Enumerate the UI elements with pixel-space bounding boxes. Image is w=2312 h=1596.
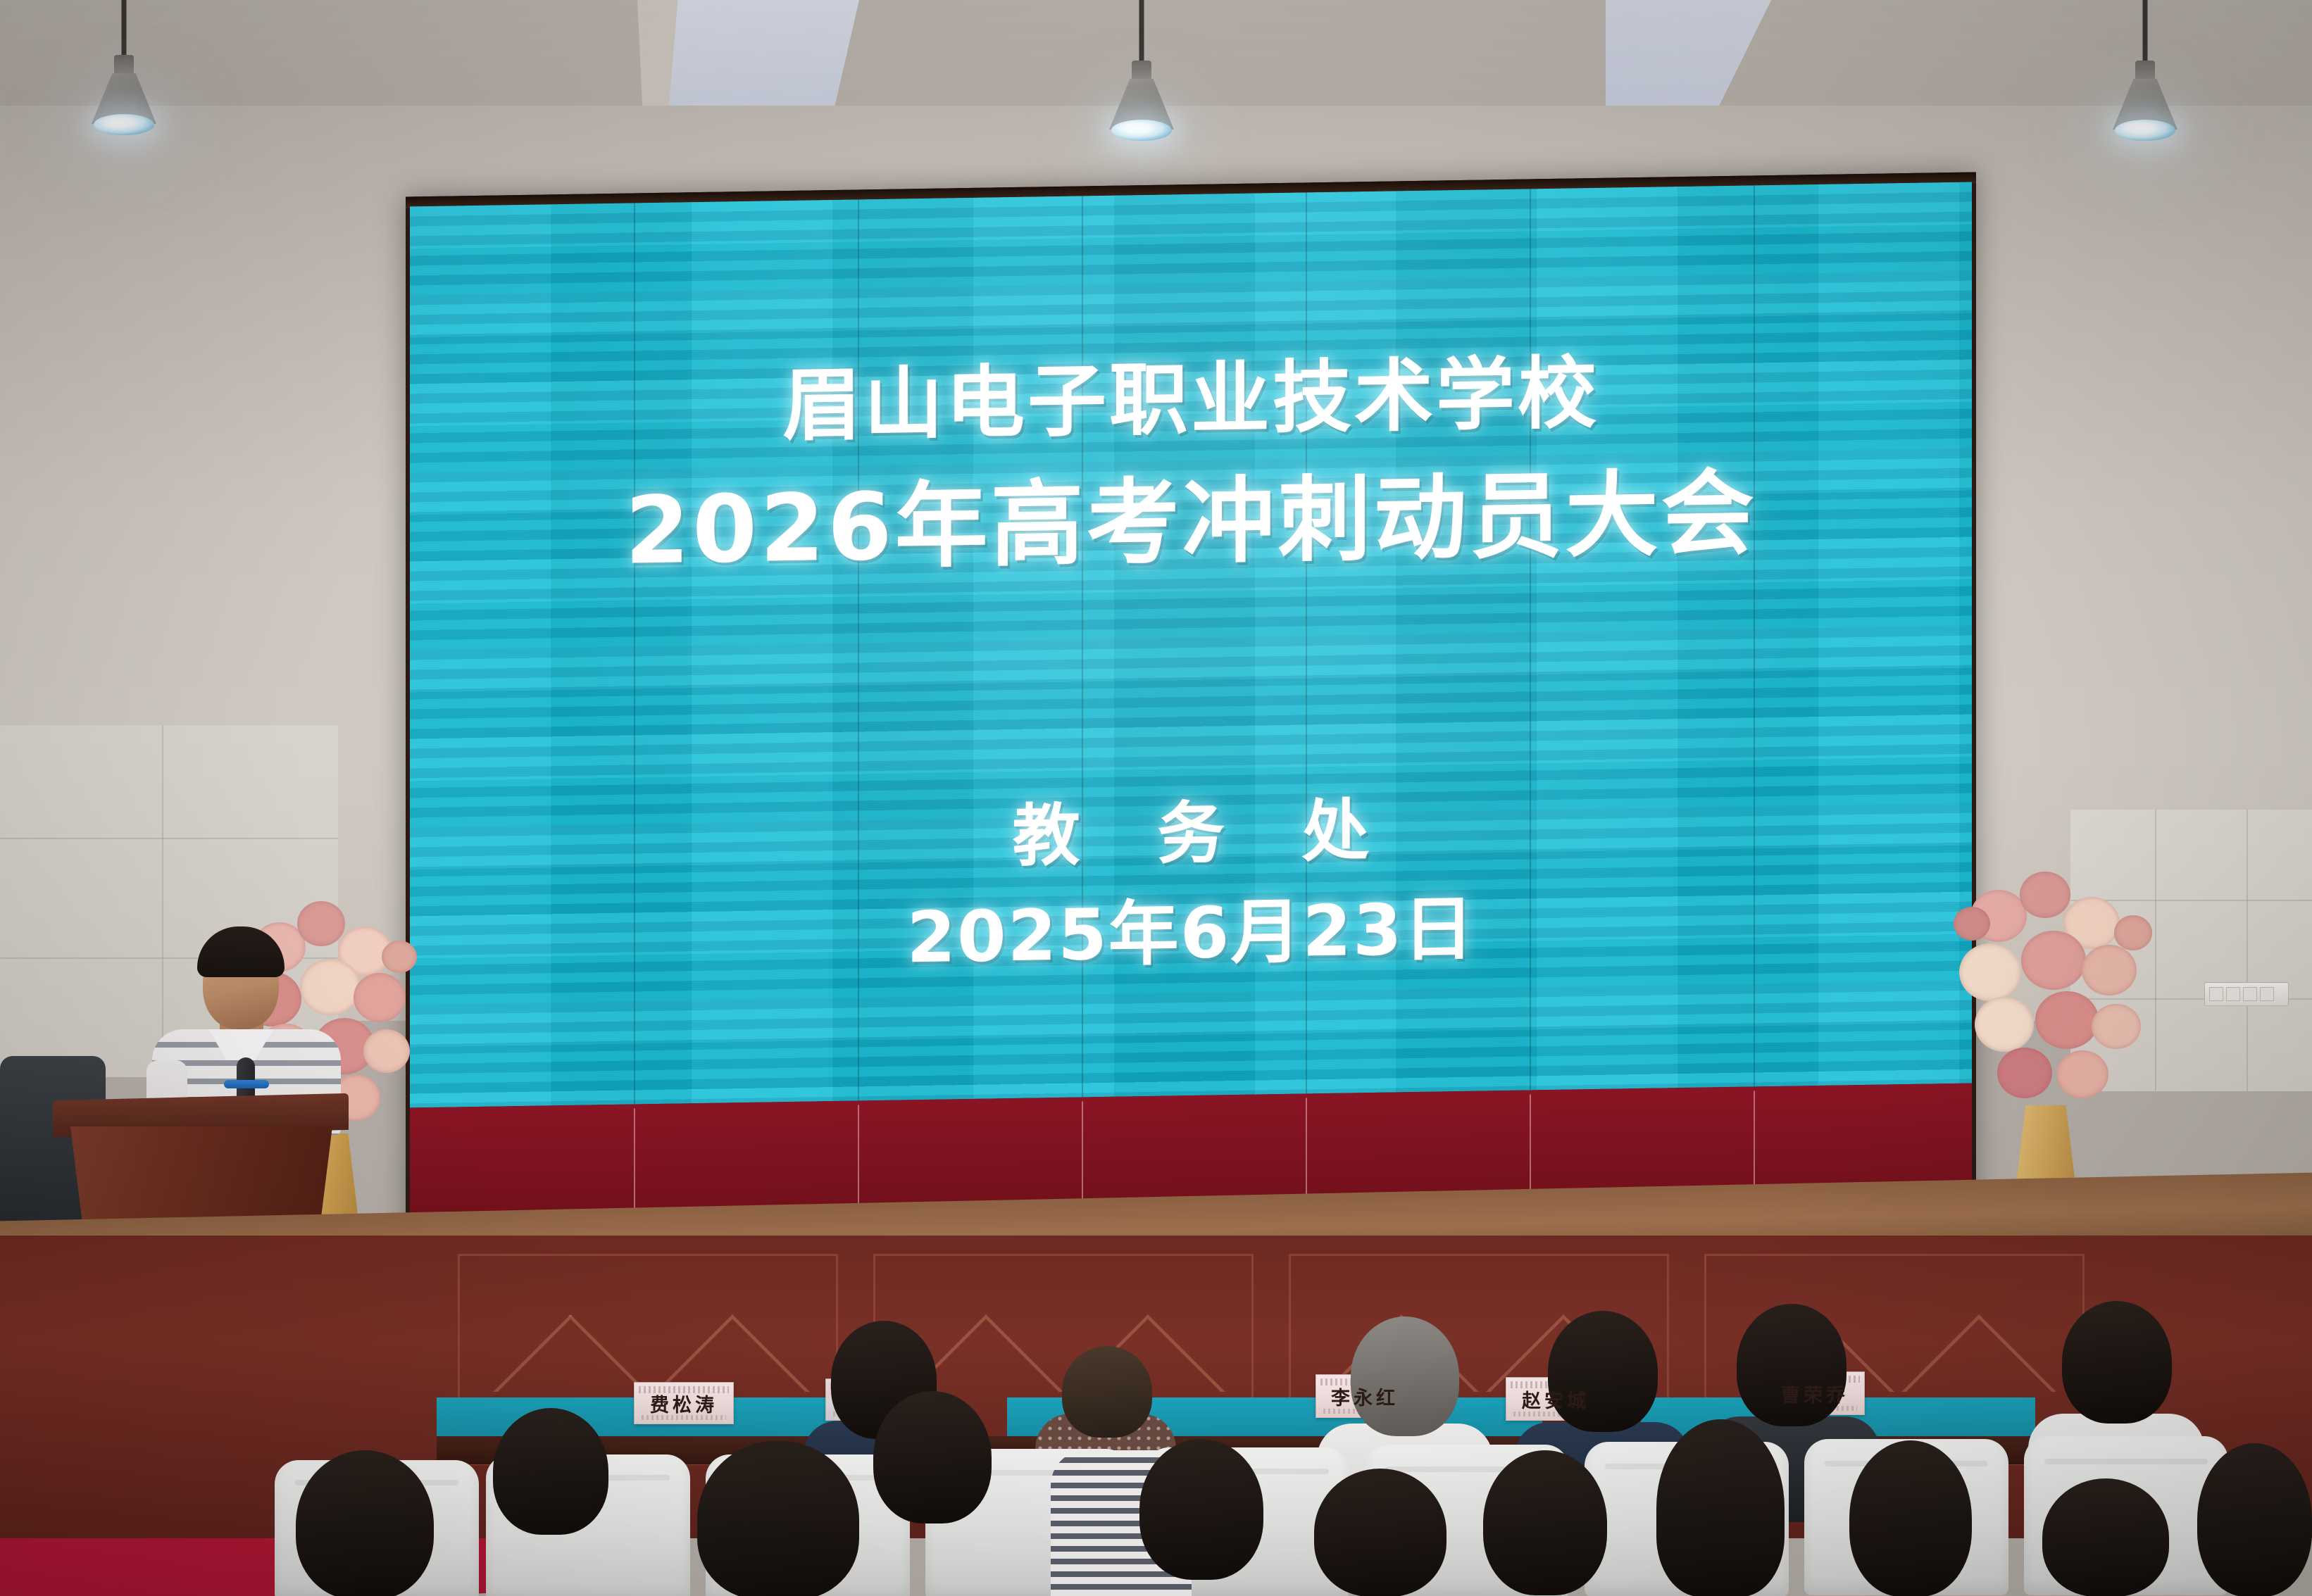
attendee-head — [1314, 1469, 1446, 1596]
pendant-light-3 — [2113, 0, 2177, 141]
attendee-head — [1483, 1450, 1607, 1595]
attendee-head — [1062, 1346, 1152, 1438]
nameplate-1: 费松涛 — [634, 1382, 734, 1424]
attendee-head — [2042, 1478, 2169, 1596]
screen-surface: 眉山电子职业技术学校 2026年高考冲刺动员大会 教 务 处 2025年6月23… — [410, 182, 1972, 1108]
attendee-head — [1139, 1439, 1263, 1580]
nameplate-2-label: 李永红 — [1331, 1383, 1399, 1410]
conference-hall-photo: 眉山电子职业技术学校 2026年高考冲刺动员大会 教 务 处 2025年6月23… — [0, 0, 2312, 1596]
attendee-head — [2197, 1443, 2312, 1596]
flower-arrangement-right — [1951, 866, 2162, 1126]
pendant-light-1 — [92, 0, 156, 134]
pendant-light-2 — [1109, 0, 1174, 141]
screen-date: 2025年6月23日 — [410, 886, 1972, 981]
attendee-head — [1548, 1311, 1658, 1432]
attendee-head — [296, 1450, 434, 1596]
attendee-head — [493, 1408, 608, 1535]
nameplate-1-label: 费松涛 — [650, 1390, 718, 1417]
attendee-head — [1351, 1317, 1459, 1436]
attendee-head — [1849, 1440, 1972, 1596]
attendee-head — [697, 1440, 859, 1596]
nameplate-3-label: 赵安城 — [1522, 1385, 1589, 1413]
microphone-ring — [224, 1080, 269, 1088]
speaker-hair — [197, 926, 285, 977]
attendee-head — [1656, 1419, 1785, 1596]
nameplate-4-label: 曹荣乔 — [1781, 1380, 1849, 1407]
attendee-head — [1737, 1304, 1847, 1426]
screen-text-block: 眉山电子职业技术学校 2026年高考冲刺动员大会 教 务 处 2025年6月23… — [410, 182, 1972, 1108]
screen-title-line2: 2026年高考冲刺动员大会 — [410, 464, 1972, 582]
light-switch-panel[interactable] — [2204, 982, 2289, 1006]
led-display-screen: 眉山电子职业技术学校 2026年高考冲刺动员大会 教 务 处 2025年6月23… — [406, 172, 1976, 1252]
screen-title-line1: 眉山电子职业技术学校 — [410, 348, 1972, 452]
attendee-head — [2062, 1301, 2172, 1424]
attendee-head — [873, 1391, 992, 1523]
screen-department: 教 务 处 — [410, 788, 1972, 880]
